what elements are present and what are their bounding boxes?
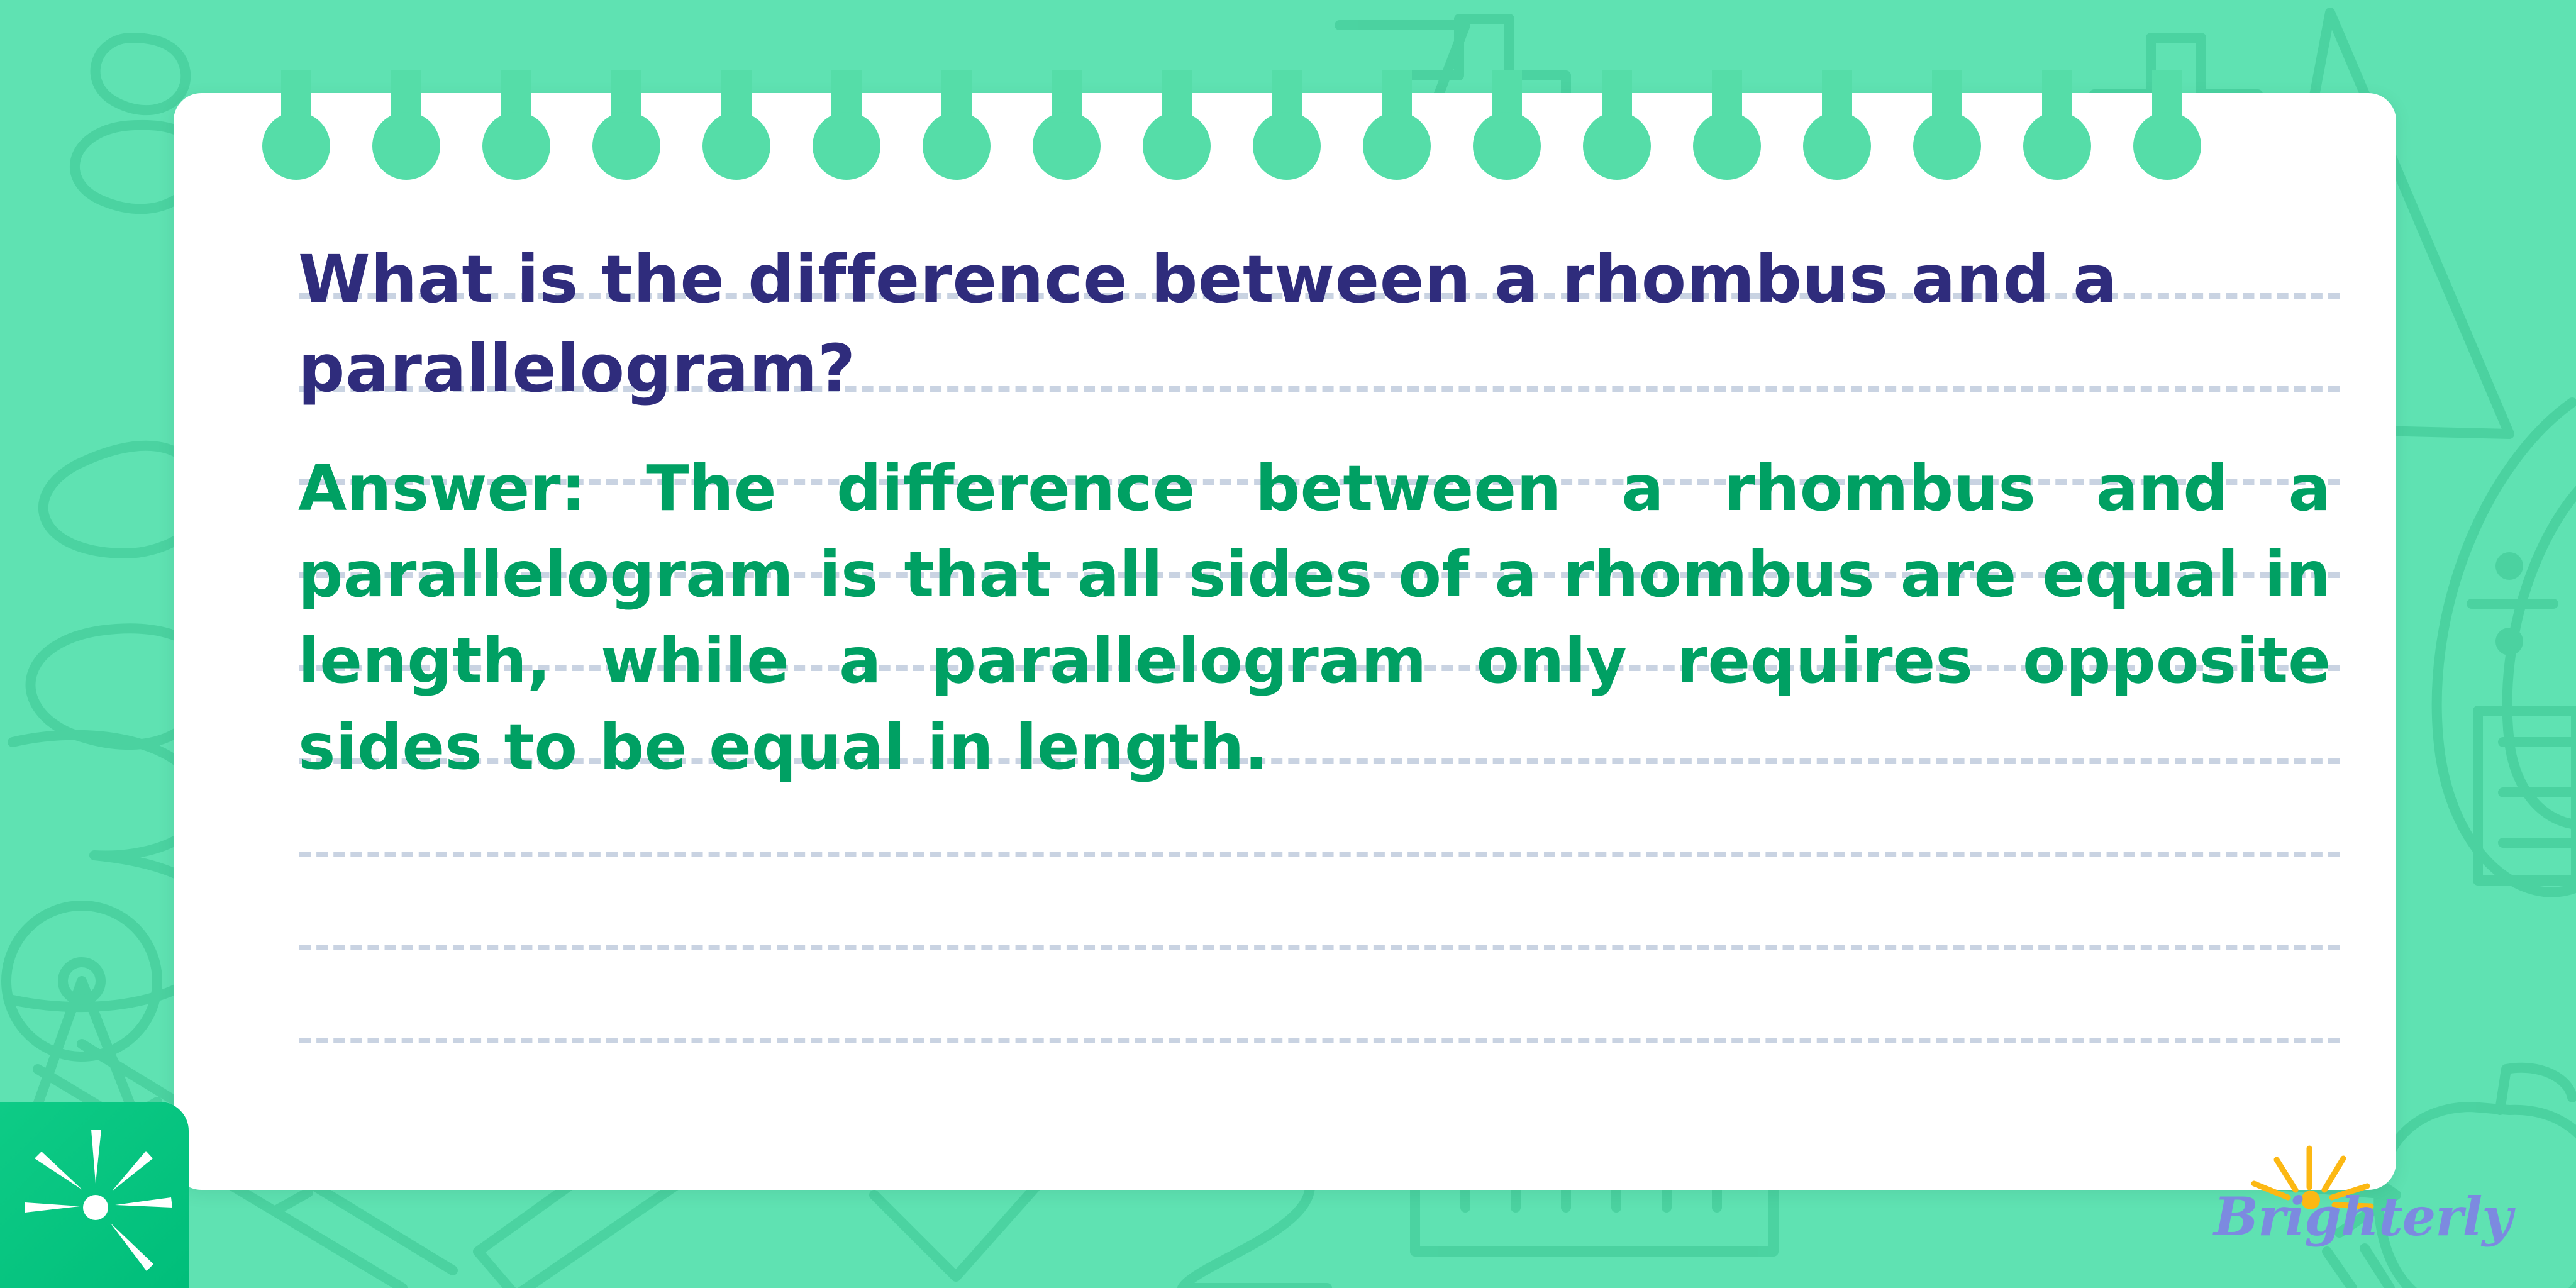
question-text: What is the difference between a rhombus… — [298, 235, 2329, 414]
card-content: What is the difference between a rhombus… — [174, 93, 2396, 1190]
brighterly-logo: . Brighterly — [2214, 1132, 2503, 1252]
answer-text: Answer: The difference between a rhombus… — [298, 445, 2331, 790]
svg-text:.: . — [2214, 1132, 2217, 1135]
notecard-screenshot: What is the difference between a rhombus… — [0, 0, 2576, 1288]
brand-wordmark: Brighterly — [2214, 1185, 2503, 1248]
